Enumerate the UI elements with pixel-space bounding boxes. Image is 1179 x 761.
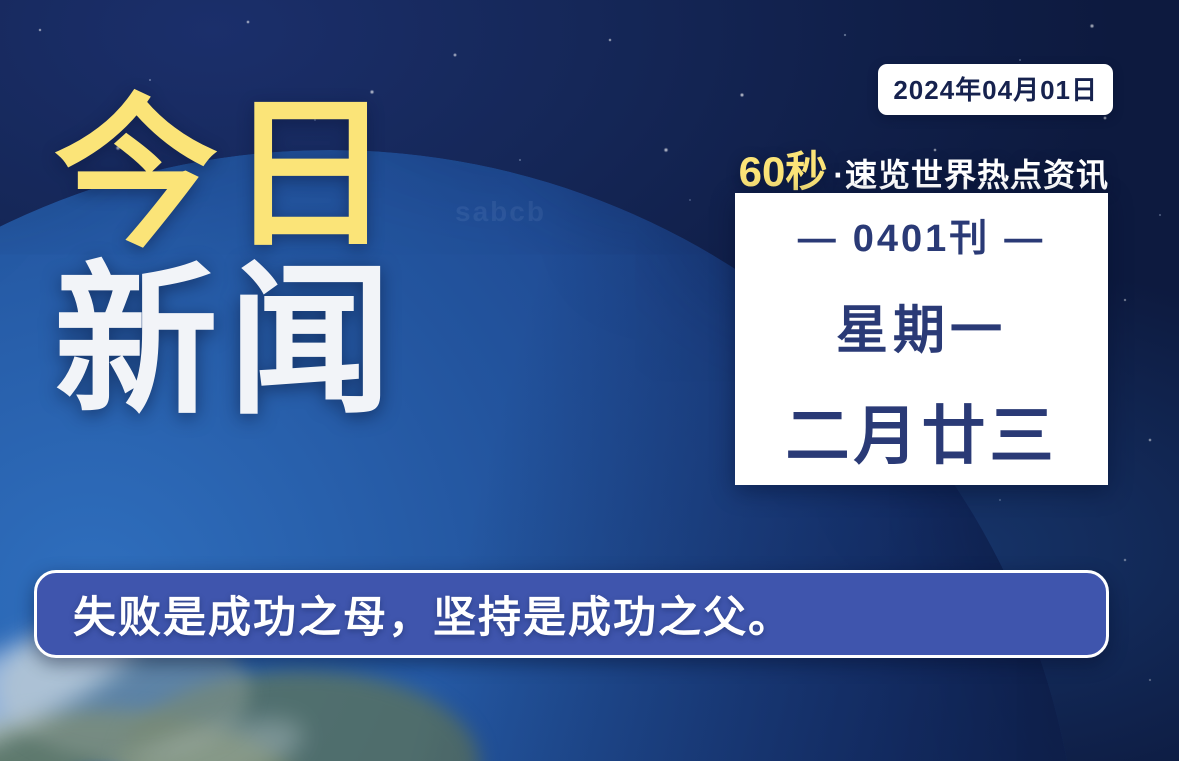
issue-dash-right: — [1004, 218, 1045, 260]
lunar-date-label: 二月廿三 [786, 385, 1058, 477]
brand-title: 今日 新闻 [54, 96, 402, 421]
issue-card: —0401刊— 星期一 二月廿三 [735, 193, 1108, 485]
date-badge: 2024年04月01日 [878, 64, 1113, 115]
tagline-rest: ·速览世界热点资讯 [833, 150, 1109, 196]
quote-bar: 失败是成功之母，坚持是成功之父。 [34, 570, 1109, 658]
issue-number: 0401刊 [853, 218, 991, 260]
tagline: 60秒 ·速览世界热点资讯 [739, 138, 1109, 199]
weekday-label: 星期一 [836, 288, 1007, 363]
issue-line: —0401刊— [784, 207, 1060, 262]
brand-title-line-1: 今日 [54, 96, 402, 253]
brand-title-line-2: 新闻 [54, 263, 402, 420]
issue-dash-left: — [798, 218, 839, 260]
quote-text: 失败是成功之母，坚持是成功之父。 [73, 583, 793, 645]
news-poster: sabcb 今日 新闻 2024年04月01日 60秒 ·速览世界热点资讯 —0… [0, 0, 1179, 761]
tagline-seconds: 60秒 [739, 138, 828, 199]
watermark-text: sabcb [455, 196, 546, 228]
